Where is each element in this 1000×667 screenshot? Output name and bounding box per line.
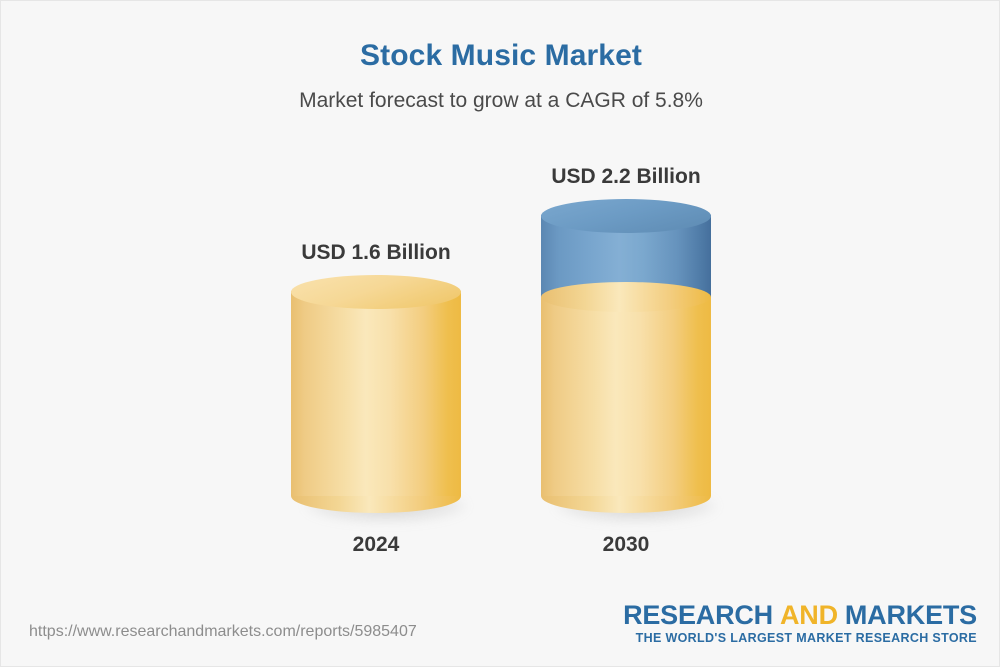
chart-canvas: Stock Music Market Market forecast to gr…: [0, 0, 1000, 667]
bar-cylinder-2030[interactable]: [541, 199, 711, 529]
logo-word-and: AND: [780, 600, 838, 630]
bar-cylinder-2024[interactable]: [291, 275, 461, 529]
bar-top-cap-2030: [541, 199, 711, 233]
bar-segment-divider-2030: [541, 282, 711, 312]
category-label-2030: 2030: [511, 533, 741, 557]
logo-word-markets: MARKETS: [845, 600, 977, 630]
bar-segment-base-2030: [541, 295, 711, 496]
bar-body-2024: [291, 291, 461, 496]
plot-area: USD 1.6 Billion 2024 USD 2.2 Billion: [1, 1, 1000, 601]
value-label-2030: USD 2.2 Billion: [511, 165, 741, 189]
value-label-2024: USD 1.6 Billion: [261, 241, 491, 265]
logo-tagline: THE WORLD'S LARGEST MARKET RESEARCH STOR…: [623, 631, 977, 646]
bar-top-cap-2024: [291, 275, 461, 309]
logo-wordmark: RESEARCHANDMARKETS: [623, 601, 977, 629]
logo-word-research: RESEARCH: [623, 600, 773, 630]
source-url[interactable]: https://www.researchandmarkets.com/repor…: [29, 623, 417, 641]
research-and-markets-logo[interactable]: RESEARCHANDMARKETS THE WORLD'S LARGEST M…: [623, 601, 977, 646]
category-label-2024: 2024: [261, 533, 491, 557]
